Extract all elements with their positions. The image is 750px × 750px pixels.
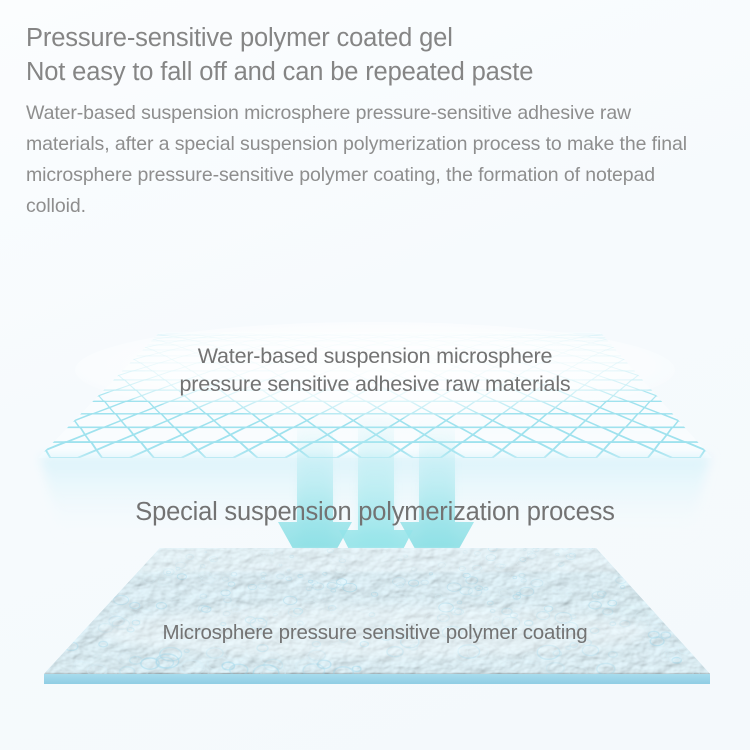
- top-layer-label: Water-based suspension microsphere press…: [0, 342, 750, 398]
- slab-edge: [44, 674, 710, 684]
- slab-sheen: [138, 548, 618, 572]
- process-diagram: Water-based suspension microsphere press…: [0, 300, 750, 750]
- headline-line-2: Not easy to fall off and can be repeated…: [26, 56, 716, 89]
- process-label: Special suspension polymerization proces…: [0, 496, 750, 528]
- top-layer-label-line-1: Water-based suspension microsphere: [198, 344, 553, 368]
- body-paragraph: Water-based suspension microsphere press…: [26, 98, 716, 222]
- product-infographic-page: Pressure-sensitive polymer coated gel No…: [0, 0, 750, 750]
- intro-text-block: Pressure-sensitive polymer coated gel No…: [26, 22, 716, 222]
- bottom-layer-label: Microsphere pressure sensitive polymer c…: [0, 619, 750, 647]
- top-layer-label-line-2: pressure sensitive adhesive raw material…: [0, 370, 750, 398]
- headline-line-1: Pressure-sensitive polymer coated gel: [26, 22, 716, 55]
